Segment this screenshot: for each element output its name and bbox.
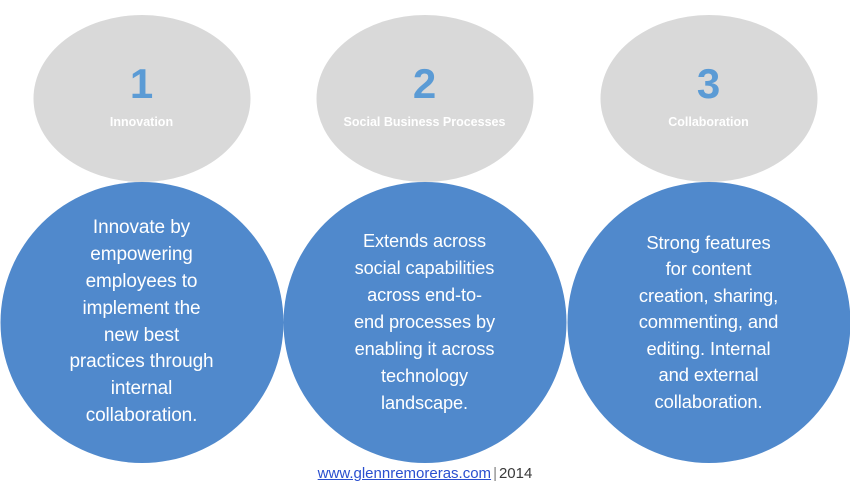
pillar-2-number: 2 xyxy=(413,63,436,105)
pillar-1-body-circle: Innovate by empowering employees to impl… xyxy=(0,182,283,463)
pillar-column-1: 1 Innovation Innovate by empowering empl… xyxy=(0,0,283,465)
pillar-1-number: 1 xyxy=(130,63,153,105)
pillar-column-2: 2 Social Business Processes Extends acro… xyxy=(283,0,566,465)
pillar-2-body-circle: Extends across social capabilities acros… xyxy=(283,182,566,463)
pillar-3-number: 3 xyxy=(697,63,720,105)
pillar-2-label: Social Business Processes xyxy=(344,114,506,131)
pillar-1-header-circle: 1 Innovation xyxy=(33,15,250,182)
pillar-2-header-circle: 2 Social Business Processes xyxy=(316,15,533,182)
pillar-3-header-circle: 3 Collaboration xyxy=(600,15,817,182)
pillar-2-header-content: 2 Social Business Processes xyxy=(316,15,533,182)
pillar-3-header-content: 3 Collaboration xyxy=(600,15,817,182)
pillar-1-label: Innovation xyxy=(110,114,173,131)
pillar-column-3: 3 Collaboration Strong features for cont… xyxy=(567,0,850,465)
pillar-1-description: Innovate by empowering employees to impl… xyxy=(44,215,240,431)
pillar-3-label: Collaboration xyxy=(668,114,749,131)
footer-separator: | xyxy=(493,465,497,482)
pillar-3-body-circle: Strong features for content creation, sh… xyxy=(567,182,850,463)
footer-year: 2014 xyxy=(499,465,532,482)
pillar-1-header-content: 1 Innovation xyxy=(33,15,250,182)
footer-attribution: www.glennremoreras.com|2014 xyxy=(0,466,850,481)
pillar-3-description: Strong features for content creation, sh… xyxy=(609,230,809,416)
author-website-link[interactable]: www.glennremoreras.com xyxy=(318,465,491,482)
pillar-2-description: Extends across social capabilities acros… xyxy=(327,228,523,418)
infographic-canvas: 1 Innovation Innovate by empowering empl… xyxy=(0,0,850,494)
